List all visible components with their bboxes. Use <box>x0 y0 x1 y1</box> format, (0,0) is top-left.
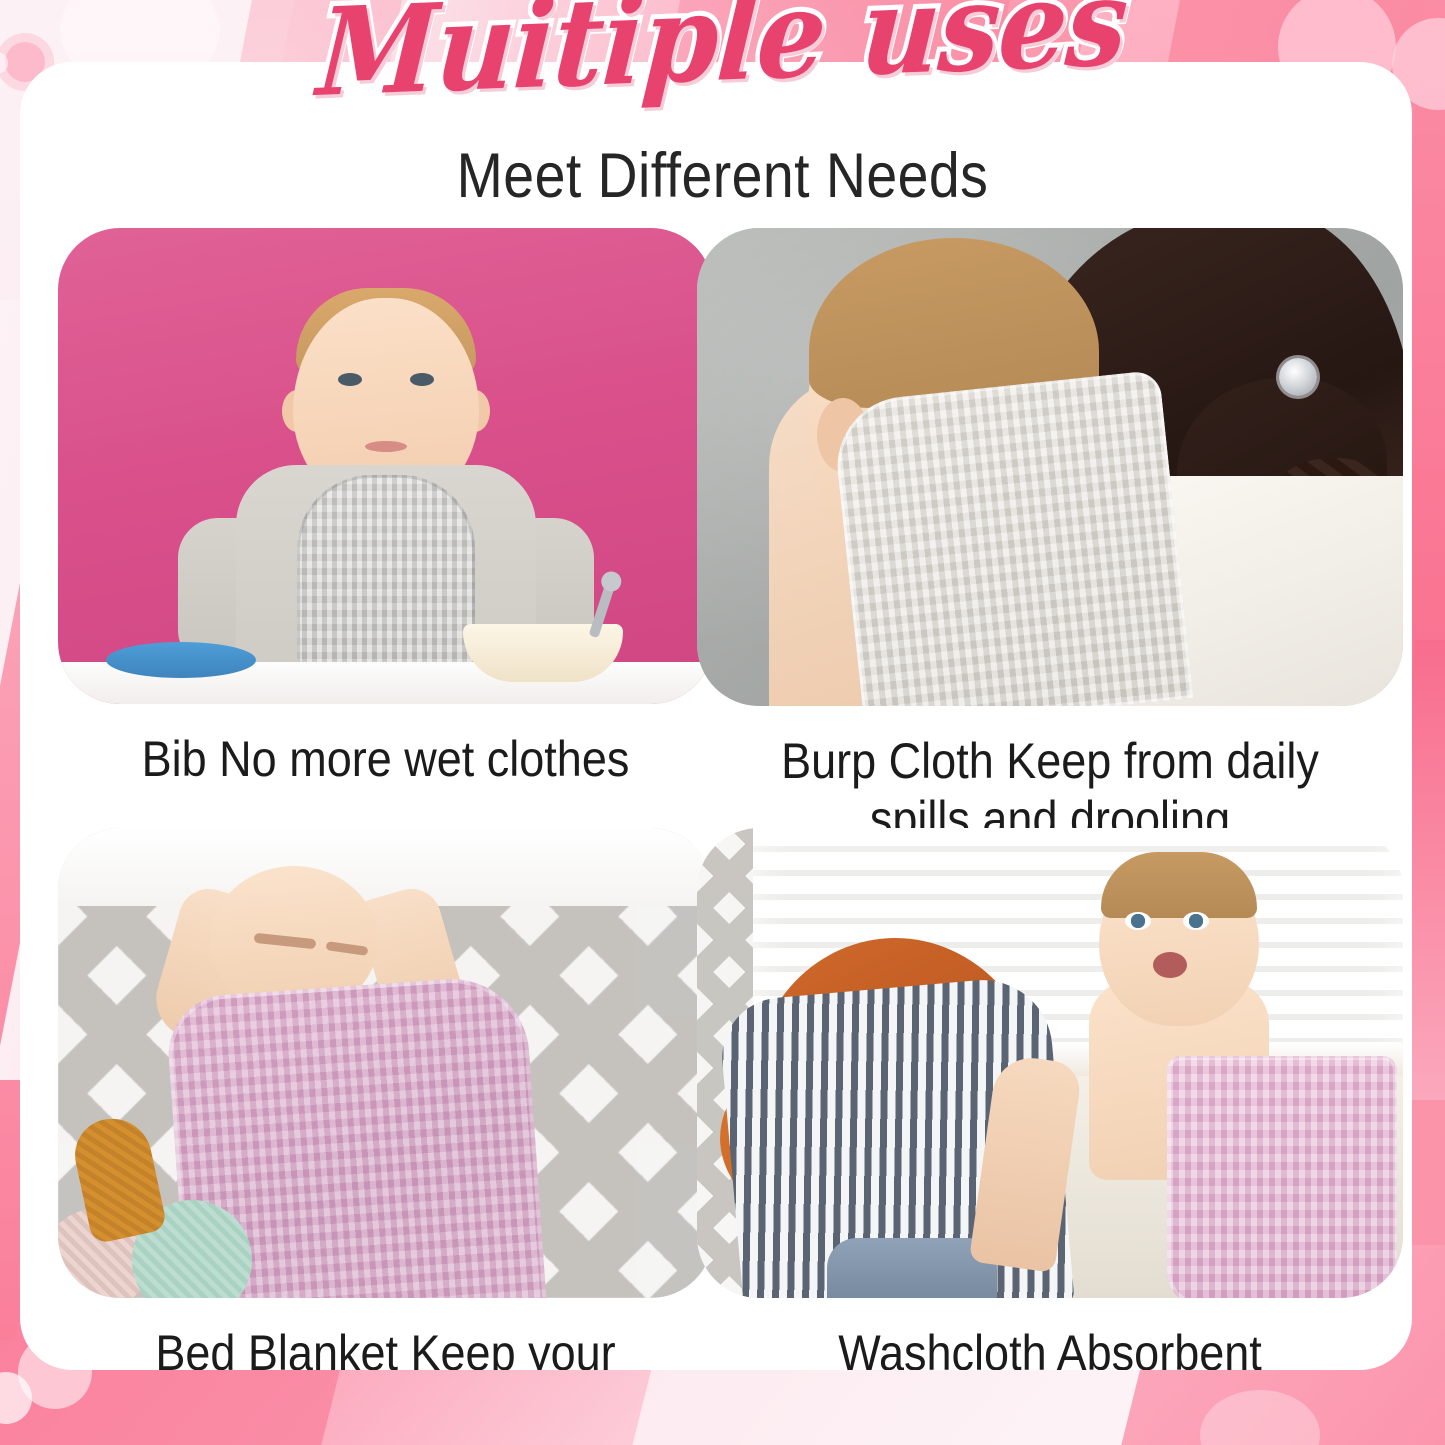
page-subtitle: Meet Different Needs <box>87 145 1359 208</box>
bib-photo <box>58 228 713 704</box>
bed-blanket-caption: Bed Blanket Keep your baby warm and cozy <box>91 1298 681 1370</box>
burp-cloth-caption: Burp Cloth Keep from daily spills and dr… <box>732 706 1367 848</box>
bib-caption: Bib No more wet clothes <box>91 704 681 788</box>
content-panel: Bib No more wet clothes <box>20 62 1412 1370</box>
feature-card-burp-cloth: Burp Cloth Keep from daily spills and dr… <box>693 228 1394 828</box>
burp-cloth-photo <box>697 228 1403 706</box>
washcloth-photo <box>697 828 1403 1298</box>
feature-grid: Bib No more wet clothes <box>38 228 1394 1370</box>
bed-blanket-photo <box>58 828 713 1298</box>
feature-card-bed-blanket: Bed Blanket Keep your baby warm and cozy <box>38 828 693 1370</box>
washcloth-caption: Washcloth Absorbent and quick drying <box>732 1298 1367 1370</box>
feature-card-bib: Bib No more wet clothes <box>38 228 693 828</box>
feature-card-washcloth: Washcloth Absorbent and quick drying <box>693 828 1394 1370</box>
